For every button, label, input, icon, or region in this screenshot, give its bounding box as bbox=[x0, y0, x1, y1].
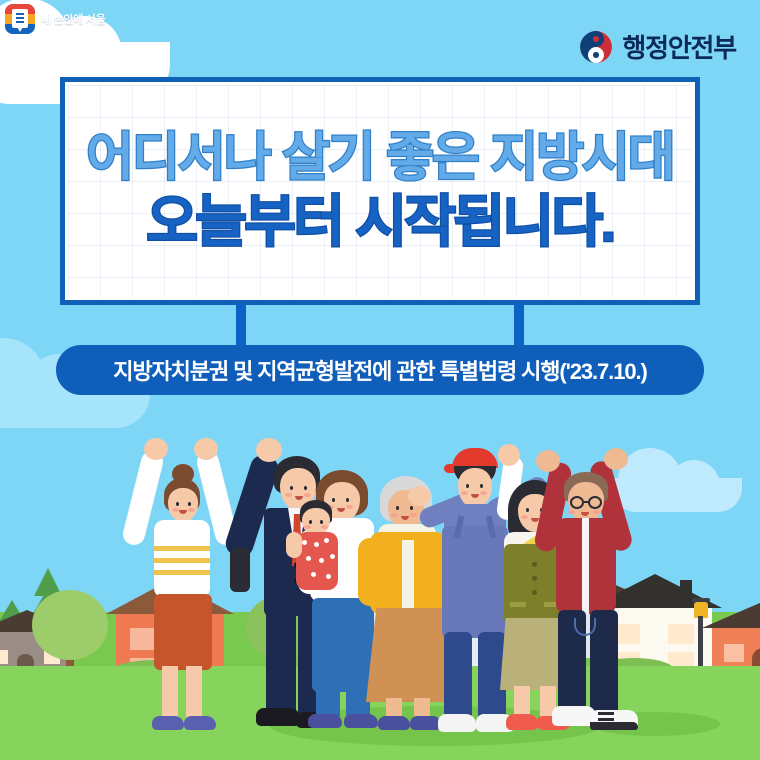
person-baby-in-arms bbox=[292, 498, 350, 594]
ministry-logo: 행정안전부 bbox=[579, 28, 736, 65]
connector-line-right bbox=[514, 303, 524, 345]
taegeuk-icon bbox=[579, 30, 613, 64]
connector-line-left bbox=[236, 303, 246, 345]
poster-canvas: 내 손안에 서울 행정안전부 어디서나 살기 좋은 지방시대 오늘부터 시작됩니… bbox=[0, 0, 760, 760]
law-banner: 지방자치분권 및 지역균형발전에 관한 특별법령 시행('23.7.10.) bbox=[56, 345, 704, 395]
headline-lines: 어디서나 살기 좋은 지방시대 오늘부터 시작됩니다. bbox=[65, 82, 695, 300]
seoul-app-icon bbox=[5, 4, 35, 34]
person-elderly-man-glasses bbox=[538, 438, 660, 744]
seoul-app-badge[interactable]: 내 손안에 서울 bbox=[5, 4, 105, 34]
seoul-app-label: 내 손안에 서울 bbox=[41, 11, 105, 27]
headline-line-1: 어디서나 살기 좋은 지방시대 bbox=[86, 131, 673, 186]
headline-line-2: 오늘부터 시작됩니다. bbox=[146, 192, 613, 251]
ministry-name: 행정안전부 bbox=[622, 28, 736, 65]
headline-box: 어디서나 살기 좋은 지방시대 오늘부터 시작됩니다. bbox=[60, 77, 700, 305]
law-banner-text: 지방자치분권 및 지역균형발전에 관한 특별법령 시행('23.7.10.) bbox=[113, 354, 646, 386]
